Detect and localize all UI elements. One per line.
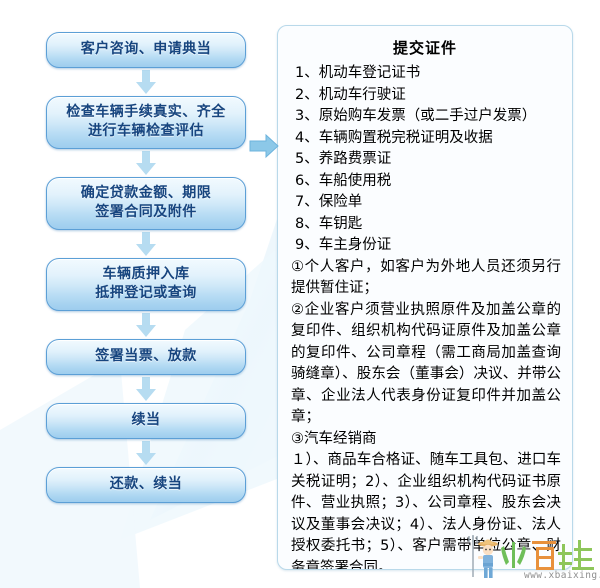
arrow-down-icon [133, 312, 159, 338]
page-root: 客户咨询、申请典当 检查车辆手续真实、齐全 进行车辆检查评估 确定贷款金额、期限… [0, 0, 600, 588]
flow-node-label: 进行车辆检查评估 [51, 122, 241, 141]
flow-node-label: 检查车辆手续真实、齐全 [51, 103, 241, 122]
arrow-down-icon [133, 69, 159, 95]
documents-panel: 提交证件 1、机动车登记证书 2、机动车行驶证 3、原始购车发票（或二手过户发票… [277, 25, 573, 570]
flow-node-repay[interactable]: 还款、续当 [46, 467, 246, 503]
flow-arrow-1 [46, 68, 246, 96]
flow-arrow-6 [46, 439, 246, 467]
list-item: 3、原始购车发票（或二手过户发票） [295, 106, 563, 128]
flow-node-label: 确定贷款金额、期限 [51, 184, 241, 203]
flow-node-inspect[interactable]: 检查车辆手续真实、齐全 进行车辆检查评估 [46, 96, 246, 149]
note-enterprise-customer: ②企业客户须营业执照原件及加盖公章的复印件、组织机构代码证原件及加盖公章的复印件… [287, 300, 563, 429]
list-item: 8、车钥匙 [295, 214, 563, 236]
flow-arrow-2 [46, 149, 246, 177]
list-item: 9、车主身份证 [295, 235, 563, 257]
arrow-down-icon [133, 150, 159, 176]
flow-node-contract[interactable]: 确定贷款金额、期限 签署合同及附件 [46, 177, 246, 230]
list-item: 5、养路费票证 [295, 149, 563, 171]
note-individual-customer: ①个人客户，如客户为外地人员还须另行提供暂住证； [287, 257, 563, 300]
required-documents-list: 1、机动车登记证书 2、机动车行驶证 3、原始购车发票（或二手过户发票） 4、车… [287, 63, 563, 257]
arrow-down-icon [133, 231, 159, 257]
arrow-down-icon [133, 376, 159, 402]
list-item: 6、车船使用税 [295, 171, 563, 193]
flow-node-pledge[interactable]: 车辆质押入库 抵押登记或查询 [46, 258, 246, 311]
flow-node-label: 还款、续当 [51, 475, 241, 494]
flow-node-ticket[interactable]: 签署当票、放款 [46, 339, 246, 375]
flowchart: 客户咨询、申请典当 检查车辆手续真实、齐全 进行车辆检查评估 确定贷款金额、期限… [46, 32, 248, 503]
flow-node-label: 车辆质押入库 [51, 265, 241, 284]
arrow-down-icon [133, 440, 159, 466]
list-item: 1、机动车登记证书 [295, 63, 563, 85]
watermark-url: www.xbaixing.com [524, 570, 600, 581]
note-dealer-heading: ③汽车经销商 [287, 429, 563, 451]
flow-node-label: 签署当票、放款 [51, 347, 241, 366]
flow-node-label: 续当 [51, 411, 241, 430]
flow-node-renew[interactable]: 续当 [46, 403, 246, 439]
list-item: 2、机动车行驶证 [295, 85, 563, 107]
list-item: 7、保险单 [295, 192, 563, 214]
flow-node-label: 客户咨询、申请典当 [51, 40, 241, 59]
flow-node-label: 签署合同及附件 [51, 203, 241, 222]
panel-title: 提交证件 [287, 38, 563, 58]
list-item: 4、车辆购置税完税证明及收据 [295, 128, 563, 150]
flow-node-consult[interactable]: 客户咨询、申请典当 [46, 32, 246, 68]
arrow-right-icon [249, 133, 279, 159]
flow-arrow-4 [46, 311, 246, 339]
flow-node-label: 抵押登记或查询 [51, 284, 241, 303]
flow-arrow-5 [46, 375, 246, 403]
note-dealer-details: １）、商品车合格证、随车工具包、进口车关税证明；2）、企业组织机构代码证书原件、… [287, 450, 563, 570]
flow-arrow-3 [46, 230, 246, 258]
